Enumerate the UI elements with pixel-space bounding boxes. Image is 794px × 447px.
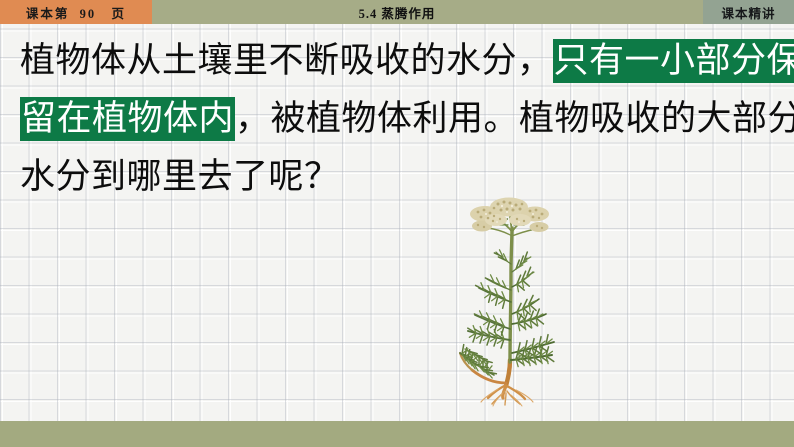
footer-bar [0, 421, 794, 447]
body-line1-highlight: 只有一小部分保 [553, 39, 794, 83]
body-line2-highlight: 留在植物体内 [20, 97, 235, 141]
body-line2-plain: ，被植物体利用。植物吸收的大部分 [235, 99, 794, 138]
plant-leaf-mid-right [512, 295, 546, 332]
plant-leaf-mid-left [468, 310, 510, 348]
page-marker-badge: 课本第 90 页 [0, 0, 152, 24]
lesson-section-badge: 课本精讲 [703, 0, 794, 24]
yarrow-plant-illustration [432, 192, 592, 407]
lesson-section-label: 课本精讲 [721, 3, 775, 22]
slide-header: 5.4 蒸腾作用 课本第 90 页 课本精讲 [0, 0, 794, 24]
body-text-line-3: 水分到哪里去了呢？ [20, 148, 780, 206]
plant-stem [510, 228, 512, 362]
body-text-line-2: 留在植物体内，被植物体利用。植物吸收的大部分 [20, 90, 780, 148]
page-marker-label: 课本第 90 页 [26, 3, 126, 22]
body-text-line-1: 植物体从土壤里不断吸收的水分，只有一小部分保 [20, 32, 780, 90]
plant-leaf-lower-right [511, 335, 554, 368]
body-line3-plain: 水分到哪里去了呢？ [20, 157, 340, 196]
body-line1-plain: 植物体从土壤里不断吸收的水分， [20, 41, 553, 80]
slide-body-text: 植物体从土壤里不断吸收的水分，只有一小部分保 留在植物体内，被植物体利用。植物吸… [20, 32, 780, 206]
slide-canvas: 5.4 蒸腾作用 课本第 90 页 课本精讲 植物体从土壤里不断吸收的水分，只有… [0, 0, 794, 447]
plant-leaf-upper-left [476, 274, 511, 308]
